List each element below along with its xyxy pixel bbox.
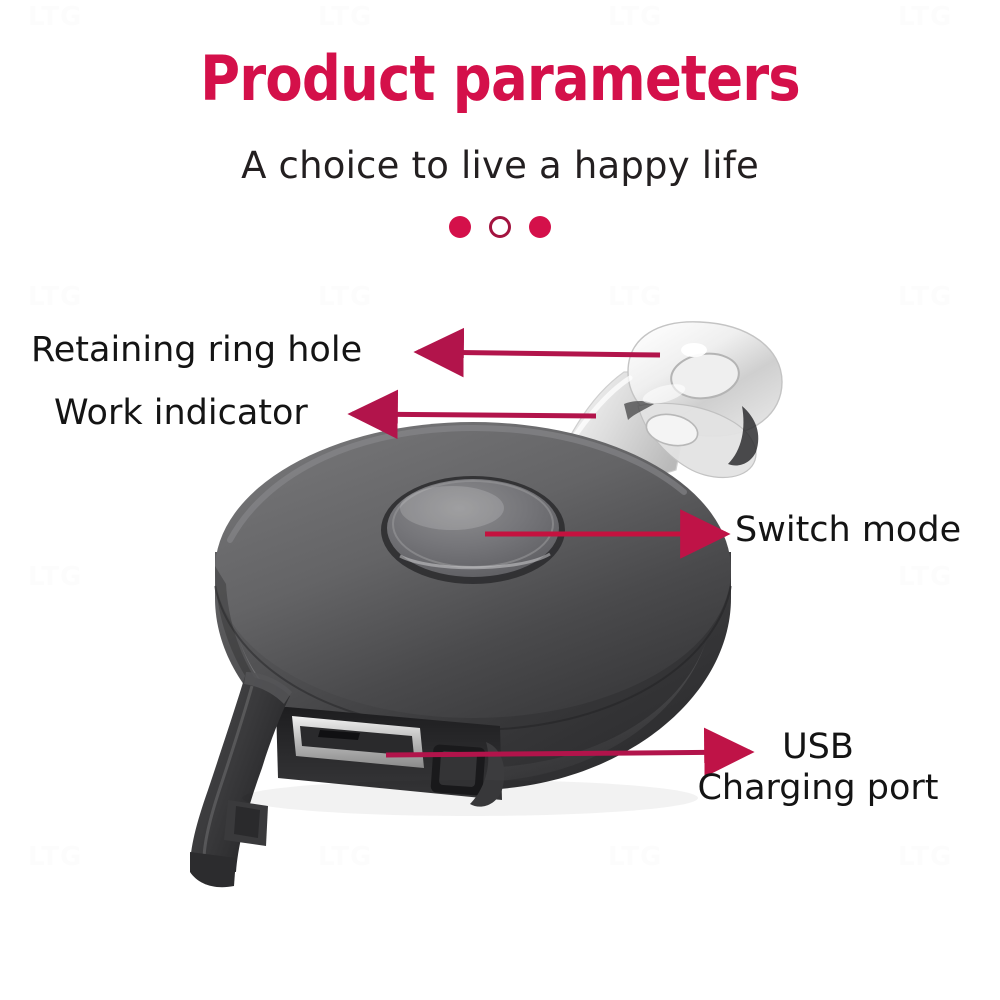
product-illustration [0,0,1000,1000]
mode-button[interactable] [381,476,565,584]
arrow-retaining-ring-hole [418,352,660,355]
usb-label-line1: USB [782,727,854,767]
callout-label-retaining-ring-hole: Retaining ring hole [31,330,362,371]
rubber-dust-cover-flap[interactable] [190,672,292,887]
callout-label-switch-mode: Switch mode [735,510,961,551]
callout-label-usb-charging-port: USB Charging port [668,727,968,810]
callout-label-work-indicator: Work indicator [54,393,308,434]
product-parameters-infographic: LTG LTG LTG LTG LTG LTG LTG LTG LTG LTG … [0,0,1000,1000]
arrow-work-indicator [352,414,596,416]
usb-label-line2: Charging port [668,768,968,809]
